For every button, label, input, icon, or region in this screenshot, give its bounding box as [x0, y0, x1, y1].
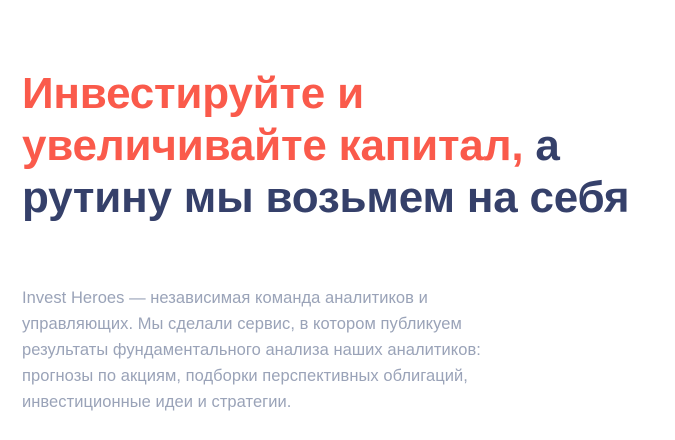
hero-description: Invest Heroes — независимая команда анал… — [22, 285, 612, 415]
description-line-4: прогнозы по акциям, подборки перспективн… — [22, 363, 612, 389]
heading-line-2: увеличивайте капитал, а — [22, 120, 670, 172]
heading-line-2-accent: увеличивайте капитал, — [22, 121, 523, 170]
description-line-2: управляющих. Мы сделали сервис, в которо… — [22, 311, 612, 337]
description-line-3: результаты фундаментального анализа наши… — [22, 337, 612, 363]
page-title: Инвестируйте и увеличивайте капитал, а р… — [22, 68, 670, 224]
heading-line-3: рутину мы возьмем на себя — [22, 172, 670, 224]
heading-line-3-dark: рутину мы возьмем на себя — [22, 173, 629, 222]
description-line-5: инвестиционные идеи и стратегии. — [22, 389, 612, 415]
heading-line-1-accent: Инвестируйте и — [22, 69, 364, 118]
hero-section: Инвестируйте и увеличивайте капитал, а р… — [0, 0, 675, 440]
heading-line-1: Инвестируйте и — [22, 68, 670, 120]
heading-line-2-dark: а — [523, 121, 559, 170]
description-line-1: Invest Heroes — независимая команда анал… — [22, 285, 612, 311]
